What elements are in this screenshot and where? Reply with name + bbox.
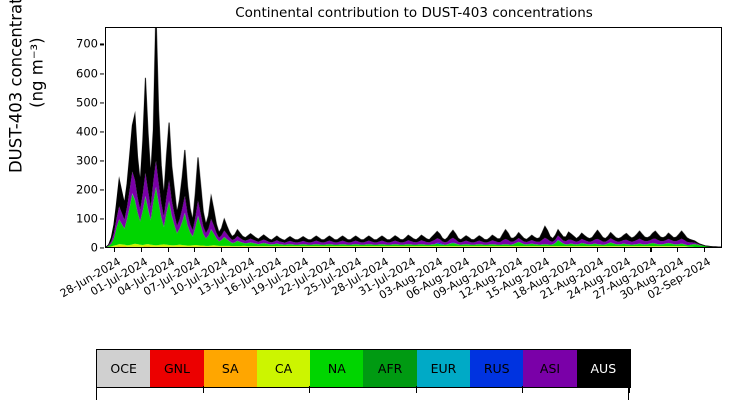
y-axis-label-line2: (ng m⁻³) [27, 0, 48, 188]
legend-item-aus[interactable]: AUS [577, 350, 630, 387]
x-axis-tick-mark [221, 248, 222, 252]
x-axis-tick-mark [141, 248, 142, 252]
x-axis-tick-mark [463, 248, 464, 252]
y-axis-tick-mark [100, 102, 104, 103]
x-axis-tick-mark [248, 248, 249, 252]
y-axis-tick-label: 400 [76, 126, 98, 138]
x-axis-tick-mark [624, 248, 625, 252]
x-axis-tick-mark [704, 248, 705, 252]
x-axis-tick-mark [677, 248, 678, 252]
stacked-area-plot [106, 28, 721, 247]
legend-tick-marks [96, 386, 631, 402]
x-axis-tick-mark [516, 248, 517, 252]
legend-tick-mark [309, 386, 310, 393]
x-axis-tick-mark [543, 248, 544, 252]
legend-item-afr[interactable]: AFR [363, 350, 416, 387]
y-axis-label: DUST-403 concentration (ng m⁻³) [6, 0, 47, 188]
x-axis-tick-mark [570, 248, 571, 252]
y-axis-tick-label: 700 [76, 39, 98, 51]
y-axis-label-line1: DUST-403 concentration [6, 0, 27, 188]
legend-item-gnl[interactable]: GNL [150, 350, 203, 387]
legend-colorbar: OCEGNLSACANAAFREURRUSASIAUS [96, 349, 631, 388]
legend-item-sa[interactable]: SA [204, 350, 257, 387]
legend-tick-mark [96, 386, 97, 393]
legend-tick-mark [522, 386, 523, 393]
y-axis-tick-mark [100, 131, 104, 132]
plot-area [105, 27, 722, 248]
y-axis-tick-label: 600 [76, 68, 98, 80]
legend-tick-mark [203, 386, 204, 393]
legend-tick-mark [629, 386, 630, 393]
chart-figure: Continental contribution to DUST-403 con… [0, 0, 730, 402]
legend-item-eur[interactable]: EUR [417, 350, 470, 387]
x-axis-tick-mark [490, 248, 491, 252]
x-axis-tick-mark [382, 248, 383, 252]
y-axis-tick-labels: 0100200300400500600700 [56, 0, 98, 402]
legend-item-rus[interactable]: RUS [470, 350, 523, 387]
chart-title: Continental contribution to DUST-403 con… [105, 5, 723, 21]
x-axis-tick-mark [355, 248, 356, 252]
y-axis-tick-label: 100 [76, 213, 98, 225]
legend-item-oce[interactable]: OCE [97, 350, 150, 387]
y-axis-tick-label: 300 [76, 155, 98, 167]
y-axis-tick-label: 0 [91, 242, 98, 254]
y-axis-tick-mark [100, 189, 104, 190]
x-axis-tick-mark [597, 248, 598, 252]
y-axis-tick-label: 500 [76, 97, 98, 109]
x-axis-tick-mark [194, 248, 195, 252]
y-axis-tick-mark [100, 160, 104, 161]
legend-item-ca[interactable]: CA [257, 350, 310, 387]
legend-tick-mark [416, 386, 417, 393]
x-axis-tick-mark [650, 248, 651, 252]
x-axis-tick-mark [168, 248, 169, 252]
y-axis-tick-mark [100, 73, 104, 74]
x-axis-tick-mark [329, 248, 330, 252]
y-axis-tick-label: 200 [76, 184, 98, 196]
legend-item-asi[interactable]: ASI [523, 350, 576, 387]
x-axis-tick-mark [302, 248, 303, 252]
y-axis-tick-mark [100, 44, 104, 45]
x-axis-tick-mark [436, 248, 437, 252]
x-axis-tick-mark [275, 248, 276, 252]
y-axis-tick-mark [100, 218, 104, 219]
legend-item-na[interactable]: NA [310, 350, 363, 387]
x-axis-tick-mark [409, 248, 410, 252]
y-axis-tick-mark [100, 247, 104, 248]
x-axis-tick-mark [114, 248, 115, 252]
